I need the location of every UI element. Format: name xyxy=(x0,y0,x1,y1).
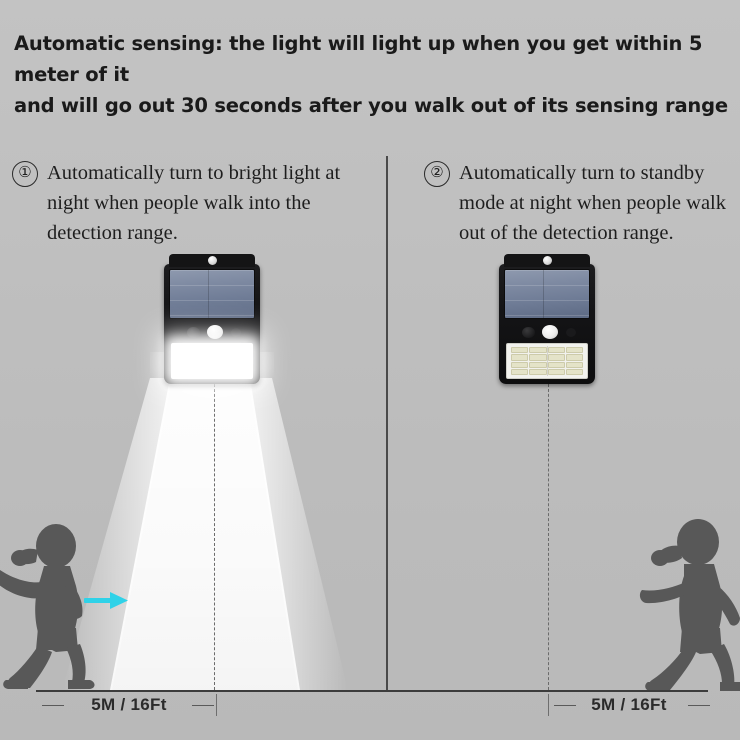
led xyxy=(548,347,565,353)
led xyxy=(231,369,248,375)
led xyxy=(566,362,583,368)
header-line1-part1: Automatic sensing: the light will light … xyxy=(14,32,689,55)
led xyxy=(176,354,193,360)
dimension-left: 5M / 16Ft xyxy=(40,694,218,716)
dimension-right: 5M / 16Ft xyxy=(548,694,710,716)
header-line-2: and will go out 30 seconds after you wal… xyxy=(14,90,730,121)
led xyxy=(529,347,546,353)
callout-1: ① Automatically turn to bright light at … xyxy=(12,158,342,248)
header-text: Automatic sensing: the light will light … xyxy=(14,28,730,121)
callout-2-marker: ② xyxy=(424,161,450,187)
dimension-label-right: 5M / 16Ft xyxy=(548,694,710,716)
led xyxy=(194,362,211,368)
header-line2-part2: seconds after you walk out of its sensin… xyxy=(208,94,728,117)
led xyxy=(548,354,565,360)
lens-icon xyxy=(187,327,200,338)
header-line-1: Automatic sensing: the light will light … xyxy=(14,28,730,90)
direction-arrow-icon xyxy=(84,590,128,612)
infographic-canvas: Automatic sensing: the light will light … xyxy=(0,0,740,740)
solar-lamp-right xyxy=(496,254,598,386)
header-line2-number: 30 xyxy=(181,94,208,117)
light-sensor-icon xyxy=(566,328,576,337)
mount-screw-icon xyxy=(208,256,217,265)
led xyxy=(213,354,230,360)
dimension-label-left: 5M / 16Ft xyxy=(40,694,218,716)
led xyxy=(548,369,565,375)
sensor-strip xyxy=(504,321,590,343)
pir-sensor xyxy=(207,325,223,339)
sensor-strip xyxy=(169,321,255,343)
ground-line xyxy=(36,690,708,692)
solar-panel xyxy=(169,269,255,319)
led xyxy=(194,354,211,360)
led xyxy=(231,354,248,360)
header-line1-number: 5 xyxy=(689,32,702,55)
led xyxy=(213,362,230,368)
led xyxy=(529,362,546,368)
led xyxy=(176,369,193,375)
pir-sensor xyxy=(542,325,558,339)
header-line1-part2: meter of it xyxy=(14,63,129,86)
led xyxy=(231,362,248,368)
led xyxy=(213,369,230,375)
led xyxy=(566,347,583,353)
led xyxy=(529,354,546,360)
axis-line-right xyxy=(548,384,549,690)
led xyxy=(511,369,528,375)
led xyxy=(231,347,248,353)
led-panel-on xyxy=(171,343,253,379)
callout-2: ② Automatically turn to standby mode at … xyxy=(424,158,736,248)
solar-panel xyxy=(504,269,590,319)
led xyxy=(566,369,583,375)
led-panel-off xyxy=(506,343,588,379)
led xyxy=(548,362,565,368)
callout-1-marker: ① xyxy=(12,161,38,187)
solar-lamp-left xyxy=(161,254,263,386)
header-line2-part1: and will go out xyxy=(14,94,181,117)
led xyxy=(213,347,230,353)
child-silhouette-right xyxy=(636,516,740,692)
led xyxy=(176,347,193,353)
led xyxy=(511,347,528,353)
lens-icon xyxy=(522,327,535,338)
led xyxy=(176,362,193,368)
mount-screw-icon xyxy=(543,256,552,265)
led xyxy=(529,369,546,375)
light-sensor-icon xyxy=(231,328,241,337)
led xyxy=(511,354,528,360)
led xyxy=(194,347,211,353)
axis-line-left xyxy=(214,384,215,690)
led xyxy=(194,369,211,375)
led xyxy=(511,362,528,368)
callout-2-text: Automatically turn to standby mode at ni… xyxy=(459,158,736,248)
callout-1-text: Automatically turn to bright light at ni… xyxy=(47,158,342,248)
led xyxy=(566,354,583,360)
